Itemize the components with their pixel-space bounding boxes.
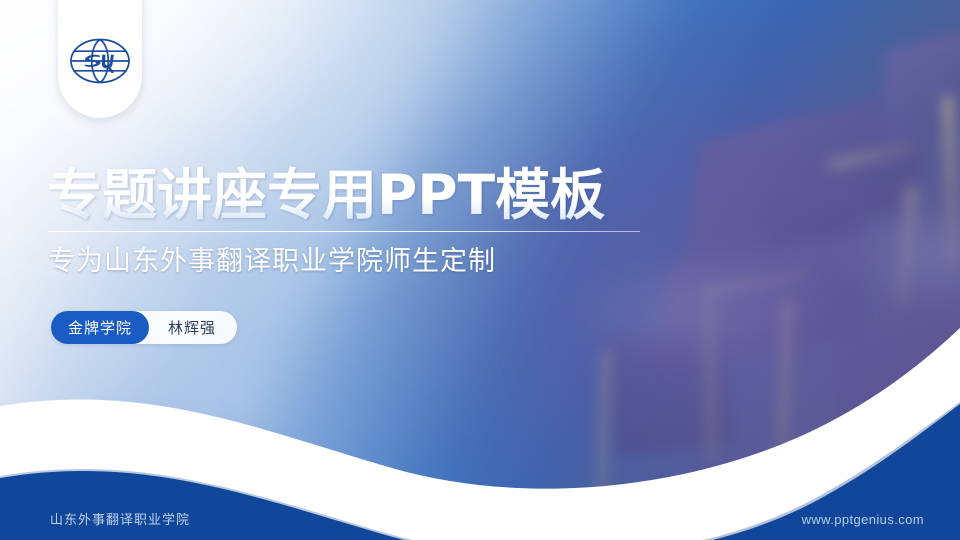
page-title: 专题讲座专用PPT模板 [47,163,605,227]
badge-gold-college[interactable]: 金牌学院 [51,311,149,344]
ppt-cover-slide: 专题讲座专用PPT模板 专题讲座专用PPT模板 专为山东外事翻译职业学院师生定制… [0,0,960,540]
footer-college-name: 山东外事翻译职业学院 [50,509,190,528]
badge-group: 金牌学院 林辉强 [51,311,237,344]
globe-logo-icon [69,37,131,85]
wave-decoration [0,310,960,540]
footer-website[interactable]: www.pptgenius.com [802,512,924,527]
title-divider [48,231,640,232]
page-subtitle: 专为山东外事翻译职业学院师生定制 [48,243,496,281]
badge-presenter-name[interactable]: 林辉强 [149,311,237,344]
college-logo-badge [58,0,142,118]
